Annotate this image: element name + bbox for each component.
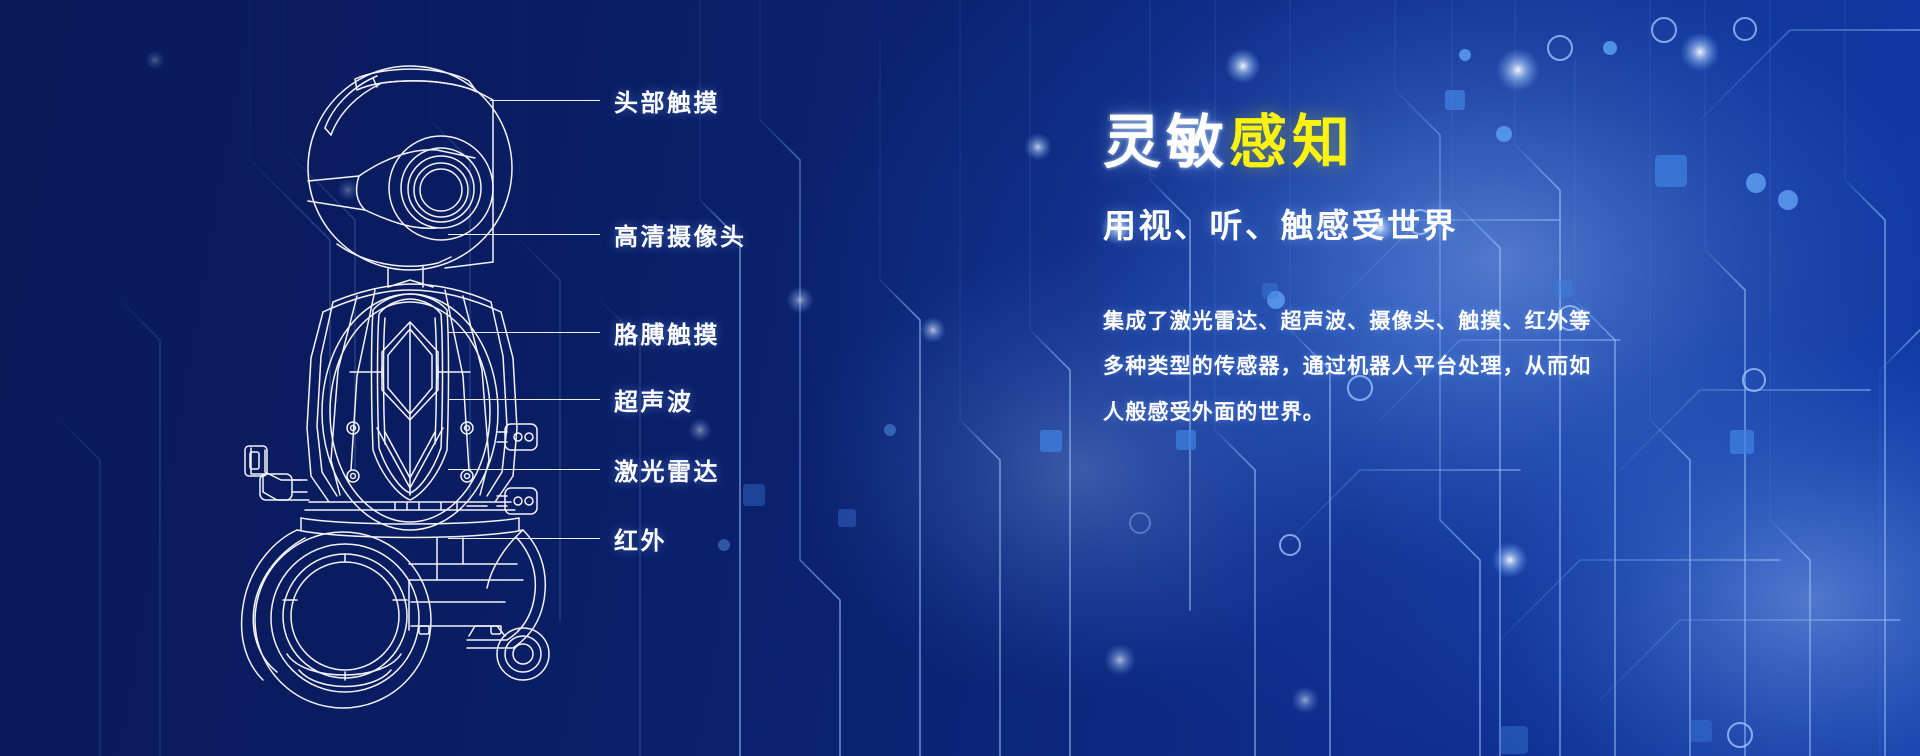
copy-block: 灵敏感知 用视、听、触感受世界 集成了激光雷达、超声波、摄像头、触摸、红外等多种… — [1103, 112, 1623, 435]
callout-arm-touch[interactable]: 胳膊触摸 — [448, 315, 720, 350]
page-title: 灵敏感知 — [1103, 112, 1623, 173]
leader-line — [448, 332, 600, 333]
callout-head-touch[interactable]: 头部触摸 — [490, 83, 720, 118]
callout-label: 超声波 — [614, 382, 694, 417]
headline-accent: 感知 — [1229, 108, 1355, 176]
leader-line — [490, 100, 600, 101]
callout-label: 红外 — [614, 521, 667, 556]
leader-line — [448, 538, 600, 539]
callout-ultrasonic[interactable]: 超声波 — [448, 382, 694, 417]
callout-label: 激光雷达 — [614, 452, 720, 487]
callout-label: 胳膊触摸 — [614, 315, 720, 350]
callout-infrared[interactable]: 红外 — [448, 521, 667, 556]
headline-primary: 灵敏 — [1103, 108, 1229, 176]
body-paragraph: 集成了激光雷达、超声波、摄像头、触摸、红外等多种类型的传感器，通过机器人平台处理… — [1103, 299, 1601, 435]
leader-line — [448, 234, 600, 235]
callout-label: 头部触摸 — [614, 83, 720, 118]
leader-line — [448, 399, 600, 400]
leader-line — [448, 469, 600, 470]
callout-lidar[interactable]: 激光雷达 — [448, 452, 720, 487]
sensing-banner: 头部触摸 高清摄像头 胳膊触摸 超声波 激光雷达 红外 灵敏感知 用视、听、触感… — [0, 0, 1920, 756]
page-subtitle: 用视、听、触感受世界 — [1103, 199, 1623, 247]
callout-label: 高清摄像头 — [614, 217, 747, 252]
callout-hd-camera[interactable]: 高清摄像头 — [448, 217, 747, 252]
